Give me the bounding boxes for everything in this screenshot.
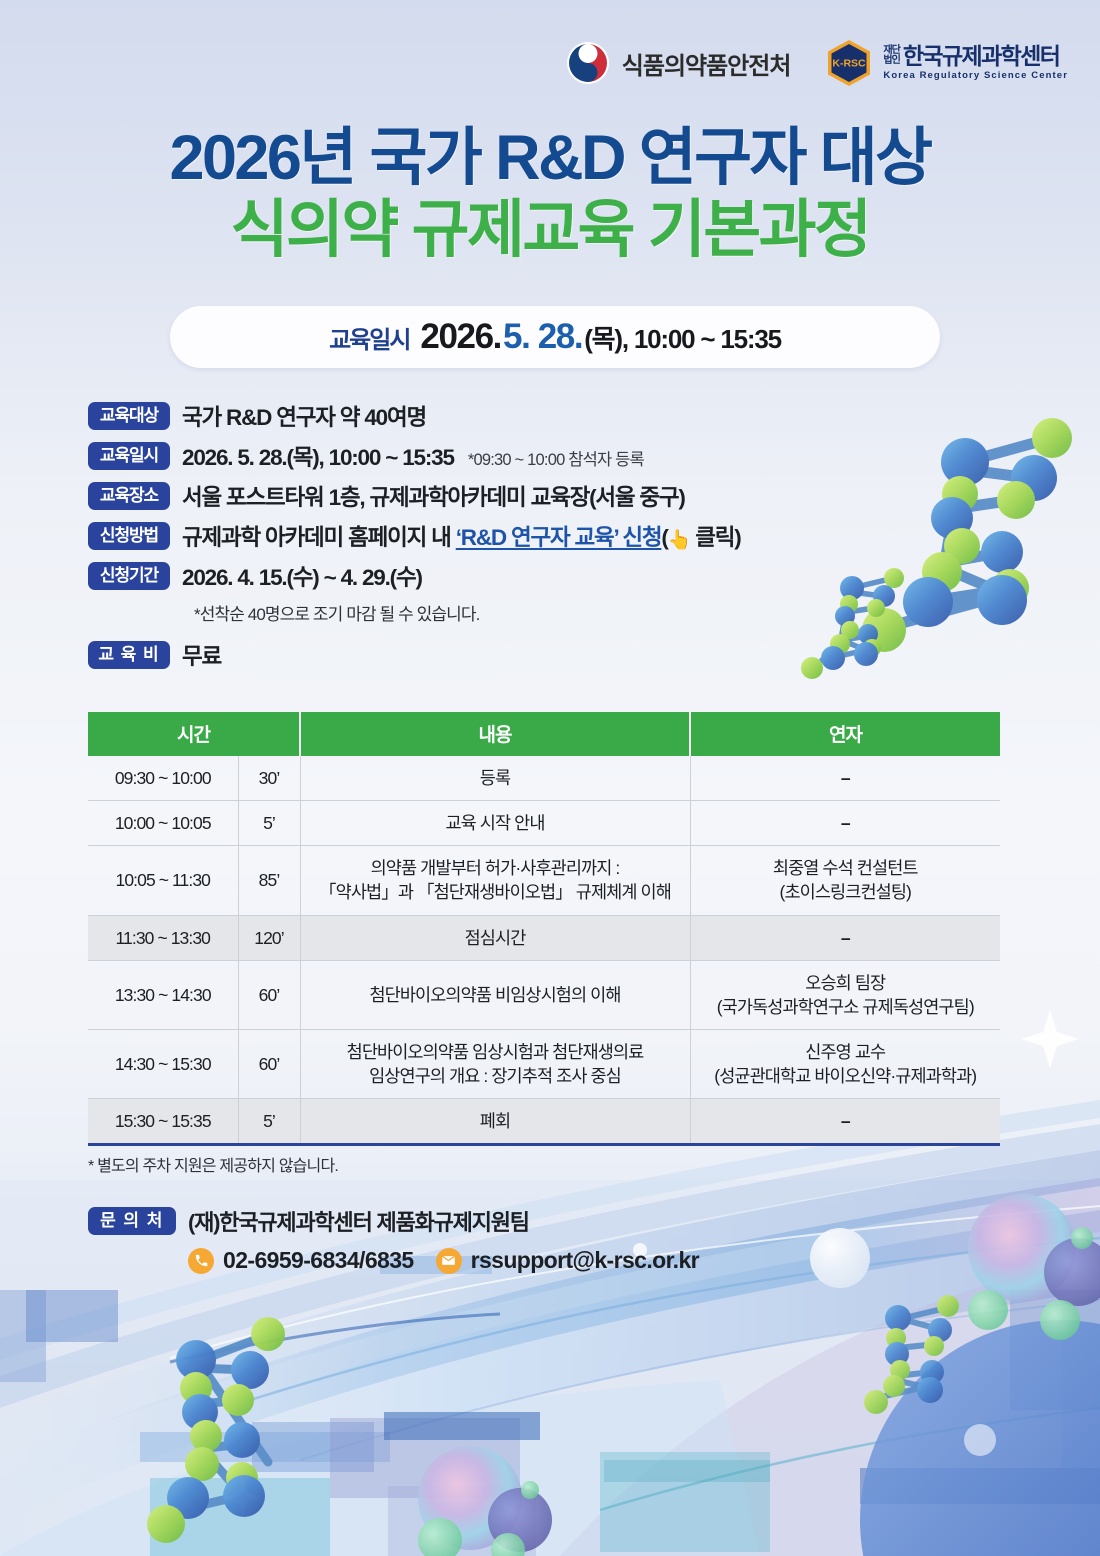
table-row: 14:30 ~ 15:30 60’ 첨단바이오의약품 임상시험과 첨단재생의료 …	[88, 1029, 1000, 1098]
cell-content: 첨단바이오의약품 임상시험과 첨단재생의료 임상연구의 개요 : 장기추적 조사…	[300, 1029, 690, 1098]
date-banner-monthday: 5. 28.	[503, 317, 582, 357]
logo-krsc-foundation: 재단법인	[883, 46, 899, 68]
cell-speaker-name: 최중열 수석 컨설턴트	[695, 856, 997, 880]
page-title: 2026년 국가 R&D 연구자 대상 식의약 규제교육 기본과정	[0, 126, 1100, 263]
badge-contact: 문 의 처	[88, 1207, 176, 1235]
schedule-col-speaker: 연자	[690, 712, 1000, 756]
info-value-target: 국가 R&D 연구자 약 40여명	[182, 400, 426, 432]
cell-speaker-affil: (국가독성과학연구소 규제독성연구팀)	[695, 995, 997, 1019]
envelope-icon	[436, 1248, 462, 1274]
info-value-datetime-sub: *09:30 ~ 10:00 참석자 등록	[468, 451, 644, 469]
table-row: 13:30 ~ 14:30 60’ 첨단바이오의약품 비임상시험의 이해 오승희…	[88, 960, 1000, 1029]
cell-content: 교육 시작 안내	[300, 801, 690, 846]
cell-speaker-name: 신주영 교수	[695, 1040, 997, 1064]
cell-duration: 30’	[238, 756, 300, 801]
cell-speaker: 최중열 수석 컨설턴트 (초이스링크컨설팅)	[690, 846, 1000, 915]
cell-speaker: 오승희 팀장 (국가독성과학연구소 규제독성연구팀)	[690, 960, 1000, 1029]
info-row-datetime: 교육일시 2026. 5. 28.(목), 10:00 ~ 15:35 *09:…	[88, 440, 968, 472]
cell-time: 11:30 ~ 13:30	[88, 915, 238, 960]
cell-speaker-affil: (초이스링크컨설팅)	[695, 880, 997, 904]
info-value-venue: 서울 포스트타워 1층, 규제과학아카데미 교육장(서울 중구)	[182, 480, 685, 512]
info-howto-suffix: 클릭)	[690, 525, 740, 550]
date-banner: 교육일시 2026. 5. 28. (목), 10:00 ~ 15:35	[170, 306, 940, 368]
cell-speaker: –	[690, 1099, 1000, 1145]
table-row: 11:30 ~ 13:30 120’ 점심시간 –	[88, 915, 1000, 960]
cell-content: 등록	[300, 756, 690, 801]
poster-root: 식품의약품안전처 K-RSC 재단법인 한국규제과학센터 Korea Regul…	[0, 0, 1100, 1556]
table-row: 09:30 ~ 10:00 30’ 등록 –	[88, 756, 1000, 801]
schedule-note: * 별도의 주차 지원은 제공하지 않습니다.	[88, 1152, 338, 1176]
badge-period: 신청기간	[88, 562, 170, 590]
badge-target: 교육대상	[88, 402, 170, 430]
date-banner-tail: (목), 10:00 ~ 15:35	[584, 319, 781, 356]
pointing-hand-icon: 👆	[668, 530, 690, 551]
logo-krsc-text: 재단법인 한국규제과학센터 Korea Regulatory Science C…	[883, 45, 1068, 81]
badge-howto: 신청방법	[88, 522, 170, 550]
cell-time: 10:05 ~ 11:30	[88, 846, 238, 915]
info-row-venue: 교육장소 서울 포스트타워 1층, 규제과학아카데미 교육장(서울 중구)	[88, 480, 968, 512]
cell-time: 10:00 ~ 10:05	[88, 801, 238, 846]
cell-duration: 5’	[238, 801, 300, 846]
info-row-howto: 신청방법 규제과학 아카데미 홈페이지 내 ‘R&D 연구자 교육’ 신청(👆 …	[88, 520, 968, 552]
info-value-fee: 무료	[182, 639, 221, 671]
cell-time: 15:30 ~ 15:35	[88, 1099, 238, 1145]
contact-section: 문 의 처 (재)한국규제과학센터 제품화규제지원팀 02-6959-6834/…	[88, 1205, 699, 1274]
info-row-period: 신청기간 2026. 4. 15.(수) ~ 4. 29.(수)	[88, 560, 968, 592]
cell-speaker: 신주영 교수 (성균관대학교 바이오신약·규제과학과)	[690, 1029, 1000, 1098]
info-value-howto: 규제과학 아카데미 홈페이지 내 ‘R&D 연구자 교육’ 신청(👆 클릭)	[182, 520, 741, 552]
cell-speaker-affil: (성균관대학교 바이오신약·규제과학과)	[695, 1064, 997, 1088]
cell-speaker: –	[690, 801, 1000, 846]
logo-krsc: K-RSC 재단법인 한국규제과학센터 Korea Regulatory Sci…	[824, 38, 1068, 88]
cell-duration: 5’	[238, 1099, 300, 1145]
hexagon-krsc-icon: K-RSC	[824, 38, 874, 88]
info-row-fee: 교 육 비 무료	[88, 639, 968, 671]
cell-speaker: –	[690, 756, 1000, 801]
info-note-period: *선착순 40명으로 조기 마감 될 수 있습니다.	[194, 600, 968, 625]
cell-speaker-name: 오승희 팀장	[695, 971, 997, 995]
taegeuk-icon	[566, 41, 610, 85]
info-howto-prefix: 규제과학 아카데미 홈페이지 내	[182, 525, 456, 550]
info-value-datetime-main: 2026. 5. 28.(목), 10:00 ~ 15:35	[182, 445, 454, 470]
cell-duration: 60’	[238, 960, 300, 1029]
logo-mfds: 식품의약품안전처	[566, 41, 791, 85]
logo-krsc-english: Korea Regulatory Science Center	[883, 71, 1068, 81]
cell-speaker: –	[690, 915, 1000, 960]
table-row: 15:30 ~ 15:35 5’ 폐회 –	[88, 1099, 1000, 1145]
phone-icon	[188, 1248, 214, 1274]
cell-duration: 120’	[238, 915, 300, 960]
cell-content: 의약품 개발부터 허가·사후관리까지 : 「약사법」과 「첨단재생바이오법」 규…	[300, 846, 690, 915]
cell-content-line1: 의약품 개발부터 허가·사후관리까지 :	[305, 856, 686, 880]
cell-time: 09:30 ~ 10:00	[88, 756, 238, 801]
info-row-target: 교육대상 국가 R&D 연구자 약 40여명	[88, 400, 968, 432]
cell-duration: 85’	[238, 846, 300, 915]
cell-content-line2: 「약사법」과 「첨단재생바이오법」 규제체계 이해	[305, 880, 686, 904]
badge-venue: 교육장소	[88, 482, 170, 510]
cell-content: 폐회	[300, 1099, 690, 1145]
cell-content-line2: 임상연구의 개요 : 장기추적 조사 중심	[305, 1064, 686, 1088]
date-banner-label: 교육일시	[329, 320, 409, 355]
info-value-period: 2026. 4. 15.(수) ~ 4. 29.(수)	[182, 560, 422, 592]
cell-content: 점심시간	[300, 915, 690, 960]
rnd-education-apply-link[interactable]: ‘R&D 연구자 교육’ 신청	[456, 525, 662, 550]
contact-org-name: (재)한국규제과학센터 제품화규제지원팀	[188, 1205, 529, 1237]
cell-duration: 60’	[238, 1029, 300, 1098]
header-logos: 식품의약품안전처 K-RSC 재단법인 한국규제과학센터 Korea Regul…	[0, 38, 1100, 88]
schedule-header-row: 시간 내용 연자	[88, 712, 1000, 756]
schedule-col-content: 내용	[300, 712, 690, 756]
cell-content-line1: 첨단바이오의약품 임상시험과 첨단재생의료	[305, 1040, 686, 1064]
info-list: 교육대상 국가 R&D 연구자 약 40여명 교육일시 2026. 5. 28.…	[88, 400, 968, 679]
badge-fee: 교 육 비	[88, 641, 170, 669]
contact-org-row: 문 의 처 (재)한국규제과학센터 제품화규제지원팀	[88, 1205, 699, 1237]
info-value-datetime: 2026. 5. 28.(목), 10:00 ~ 15:35 *09:30 ~ …	[182, 440, 644, 472]
cell-time: 14:30 ~ 15:30	[88, 1029, 238, 1098]
date-banner-year: 2026.	[420, 317, 501, 357]
logo-mfds-label: 식품의약품안전처	[622, 46, 791, 81]
cell-time: 13:30 ~ 14:30	[88, 960, 238, 1029]
table-row: 10:00 ~ 10:05 5’ 교육 시작 안내 –	[88, 801, 1000, 846]
badge-datetime: 교육일시	[88, 442, 170, 470]
contact-email[interactable]: rssupport@k-rsc.or.kr	[471, 1247, 699, 1274]
logo-krsc-korean: 한국규제과학센터	[903, 45, 1059, 68]
svg-text:K-RSC: K-RSC	[833, 58, 867, 70]
title-line-1: 2026년 국가 R&D 연구자 대상	[0, 126, 1100, 192]
cell-content: 첨단바이오의약품 비임상시험의 이해	[300, 960, 690, 1029]
title-line-2: 식의약 규제교육 기본과정	[0, 198, 1100, 264]
schedule-table: 시간 내용 연자 09:30 ~ 10:00 30’ 등록 – 10:00 ~ …	[88, 712, 1000, 1146]
schedule-col-time: 시간	[88, 712, 300, 756]
table-row: 10:05 ~ 11:30 85’ 의약품 개발부터 허가·사후관리까지 : 「…	[88, 846, 1000, 915]
contact-phone[interactable]: 02-6959-6834/6835	[223, 1247, 414, 1274]
contact-details-row: 02-6959-6834/6835 rssupport@k-rsc.or.kr	[188, 1247, 699, 1274]
